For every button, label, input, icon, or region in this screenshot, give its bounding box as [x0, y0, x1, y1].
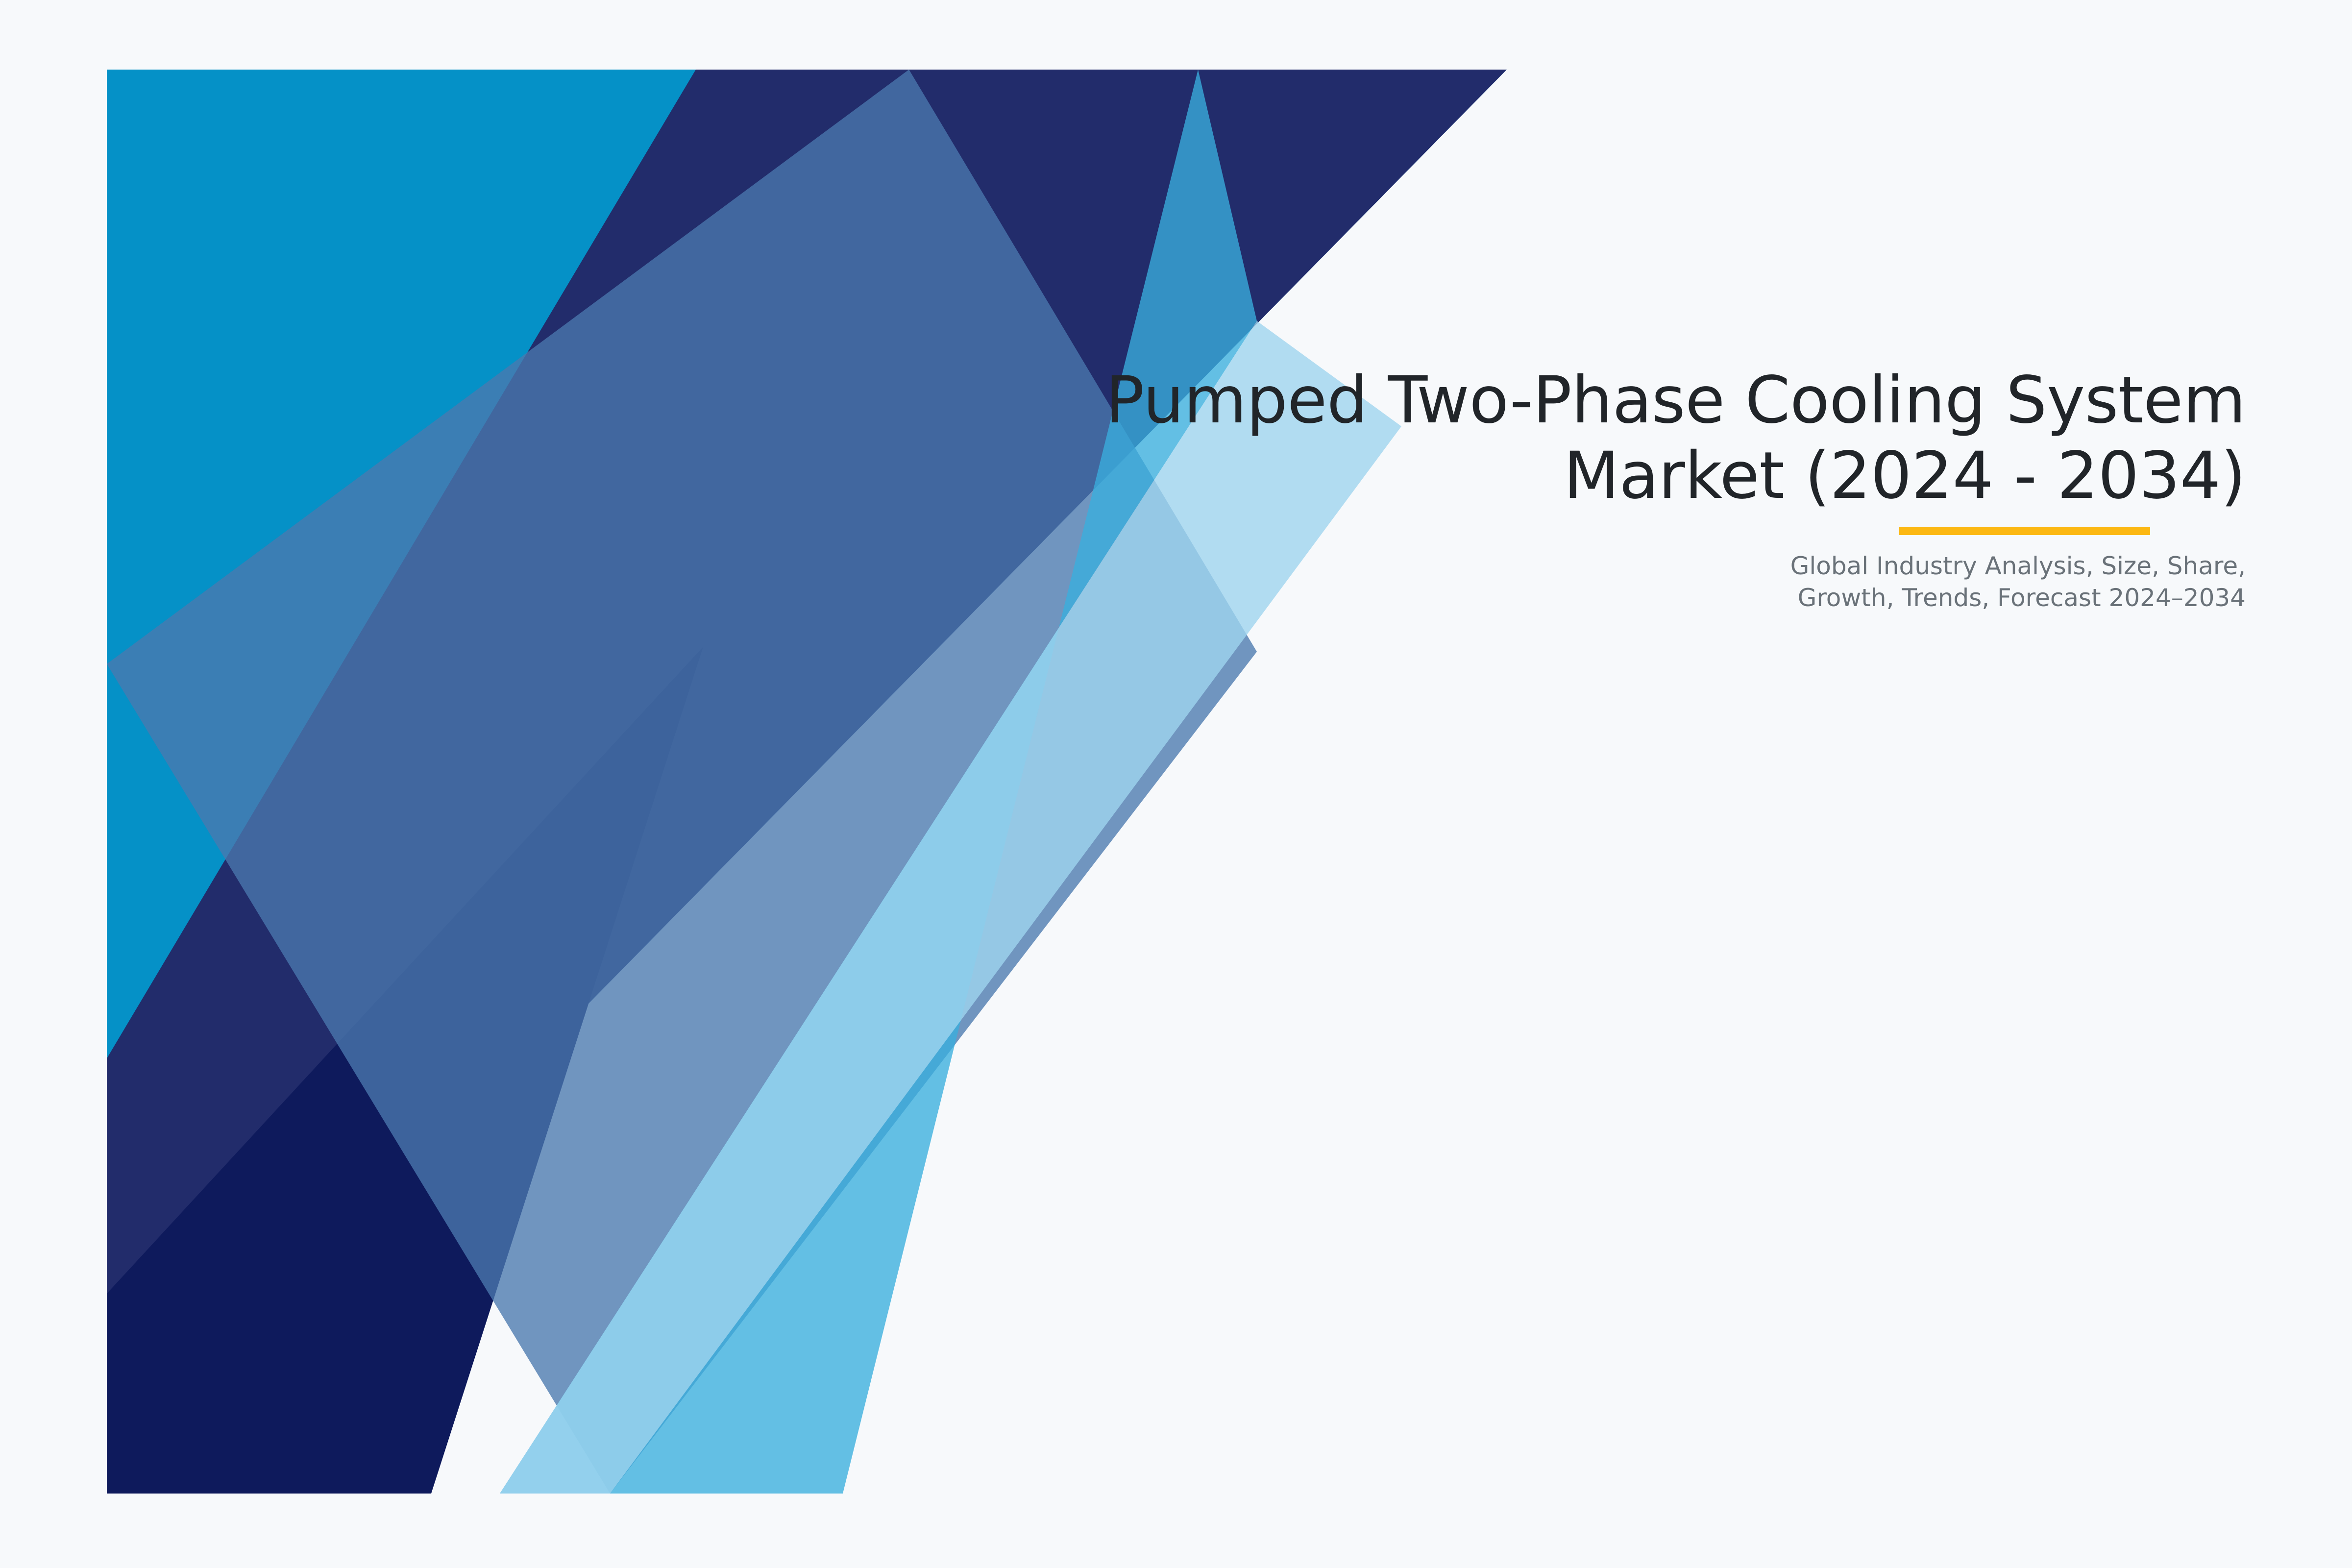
- steel-blue-slab-shape: [107, 70, 1257, 1494]
- cyan-base-panel-shape: [107, 70, 1507, 1494]
- cover-text-block: Pumped Two-Phase Cooling System Market (…: [898, 363, 2246, 614]
- page-subtitle: Global Industry Analysis, Size, Share, G…: [898, 514, 2246, 614]
- cover-page: Pumped Two-Phase Cooling System Market (…: [0, 0, 2352, 1568]
- abstract-geometric-artwork: [0, 0, 2352, 1568]
- navy-upper-wedge-shape: [107, 70, 1507, 1494]
- sky-blue-ribbon-shape: [500, 70, 1257, 1494]
- deep-navy-lower-spike-shape: [107, 647, 703, 1494]
- page-title: Pumped Two-Phase Cooling System Market (…: [898, 363, 2246, 514]
